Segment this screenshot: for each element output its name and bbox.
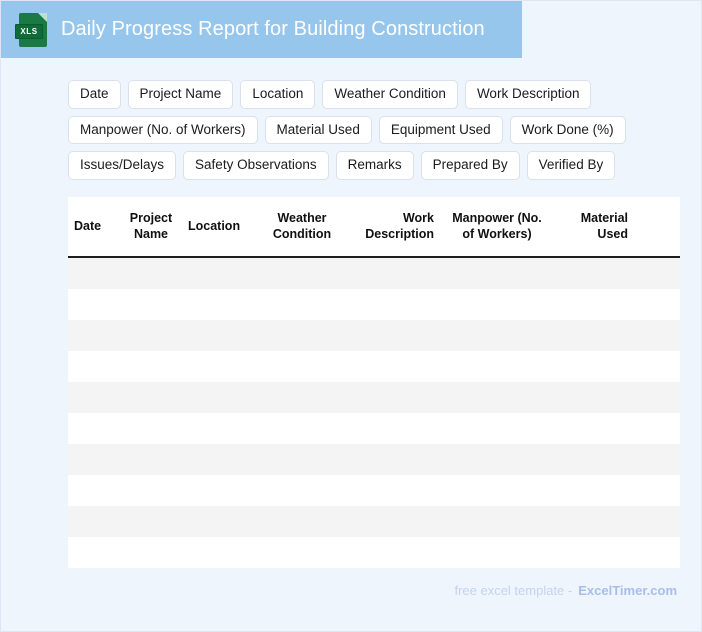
table-row[interactable] <box>68 258 680 289</box>
field-tag[interactable]: Prepared By <box>421 151 520 180</box>
xls-icon-fold <box>38 13 47 22</box>
table-header-cell[interactable]: Weather Condition <box>256 197 348 256</box>
table-row[interactable] <box>68 537 680 568</box>
table-row[interactable] <box>68 382 680 413</box>
field-tag[interactable]: Manpower (No. of Workers) <box>68 116 258 145</box>
xls-icon-badge-label: XLS <box>15 24 43 39</box>
field-tag[interactable]: Material Used <box>265 116 372 145</box>
field-tag[interactable]: Verified By <box>527 151 616 180</box>
table-row[interactable] <box>68 320 680 351</box>
field-tag[interactable]: Remarks <box>336 151 414 180</box>
table-header-cell[interactable]: Material Used <box>554 197 634 256</box>
field-tag[interactable]: Location <box>240 80 315 109</box>
table-header-cell[interactable]: Date <box>68 197 120 256</box>
table-row[interactable] <box>68 351 680 382</box>
page-root: XLS Daily Progress Report for Building C… <box>0 0 702 632</box>
field-tag[interactable]: Project Name <box>128 80 234 109</box>
field-tag-list: Date Project Name Location Weather Condi… <box>68 80 668 187</box>
field-tag[interactable]: Issues/Delays <box>68 151 176 180</box>
table-row[interactable] <box>68 289 680 320</box>
page-title: Daily Progress Report for Building Const… <box>61 18 485 41</box>
footer-attribution: free excel template -ExcelTimer.com <box>454 583 677 598</box>
field-tag[interactable]: Weather Condition <box>322 80 458 109</box>
field-tag[interactable]: Safety Observations <box>183 151 329 180</box>
table-header-cell[interactable]: Manpower (No. of Workers) <box>440 197 554 256</box>
field-tag[interactable]: Work Done (%) <box>510 116 626 145</box>
table-header-cell[interactable]: Location <box>182 197 256 256</box>
field-tag[interactable]: Equipment Used <box>379 116 503 145</box>
field-tag-row-2: Manpower (No. of Workers) Material Used … <box>68 116 668 145</box>
field-tag[interactable]: Work Description <box>465 80 592 109</box>
table-row[interactable] <box>68 475 680 506</box>
table-row[interactable] <box>68 444 680 475</box>
table-row[interactable] <box>68 506 680 537</box>
table-body <box>68 258 680 568</box>
report-table: DateProject NameLocationWeather Conditio… <box>68 197 680 568</box>
table-header-row: DateProject NameLocationWeather Conditio… <box>68 197 680 258</box>
field-tag[interactable]: Date <box>68 80 121 109</box>
document-title-bar: XLS Daily Progress Report for Building C… <box>1 1 522 58</box>
table-header-cell[interactable]: Work Description <box>348 197 440 256</box>
field-tag-row-3: Issues/Delays Safety Observations Remark… <box>68 151 668 180</box>
table-header-cell[interactable]: Project Name <box>120 197 182 256</box>
footer-lead-text: free excel template - <box>454 583 572 598</box>
table-row[interactable] <box>68 413 680 444</box>
field-tag-row-1: Date Project Name Location Weather Condi… <box>68 80 668 109</box>
xls-file-icon: XLS <box>19 13 47 47</box>
footer-brand-link[interactable]: ExcelTimer.com <box>578 583 677 598</box>
